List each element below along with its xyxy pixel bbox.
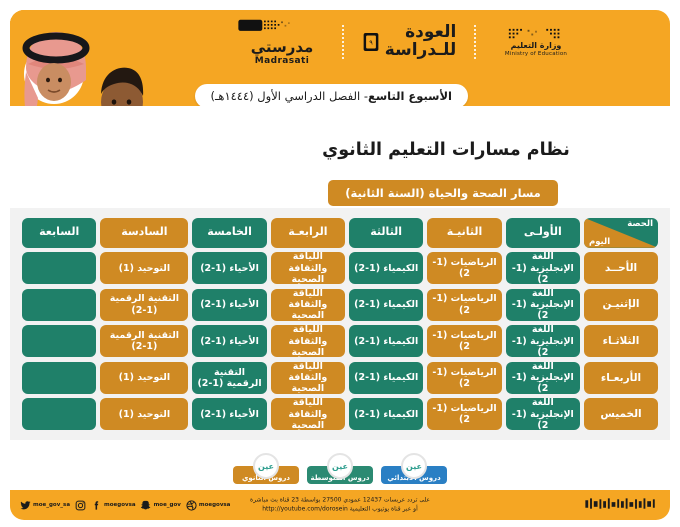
subject-cell-r4-c3: الكيمياء (1-2) [349,362,423,394]
subject-cell-r1-c2: الرياضيات (1-2) [427,252,501,284]
ain-secondary-badge[interactable]: عيندروس الثانوي [233,466,299,484]
subject-cell-r4-c6: التوحيد (1) [100,362,188,394]
subject-cell-r3-c6: التقنية الرقمية (1-2) [100,325,188,357]
dribbble-handle: moegovsa [199,502,231,508]
ain-intermediate-badge[interactable]: عيندروس المتوسطة [307,466,373,484]
subject-cell-r5-c2: الرياضيات (1-2) [427,398,501,430]
snapchat-icon [141,500,152,511]
schedule-poster: مدرستي Madrasati ٩ العودة للـدراسة [0,0,680,527]
subject-cell-r4-c5: التقنية الرقمية (1-2) [192,362,266,394]
subject-cell-r3-c5: الأحياء (1-2) [192,325,266,357]
schedule-table-wrapper: الحصةاليومالأولـىالثانيـةالثالثةالرابعـة… [10,208,670,440]
day-label-2: الإثنيـن [584,289,658,321]
ain-badges: عيندروس الثانويعيندروس المتوسطةعيندروس ا… [0,446,680,490]
dribbble-icon [186,500,197,511]
title-area: نظام مسارات التعليم الثانوي مسار الصحة و… [10,106,670,206]
subject-cell-r5-c5: الأحياء (1-2) [192,398,266,430]
day-label-3: الثلاثـاء [584,325,658,357]
table-row: الخميساللغة الإنجليزية (1-2)الرياضيات (1… [22,397,658,431]
subject-cell-r1-c6: التوحيد (1) [100,252,188,284]
footer-bar: moe_gov_samoegovsamoe_govmoegovsa على تر… [10,490,670,520]
subject-cell-r4-c1: اللغة الإنجليزية (1-2) [506,362,580,394]
week-pill: الأسبوع التاسع - الفصل الدراسي الأول (١٤… [195,84,468,108]
instagram-link[interactable] [75,500,86,511]
snapchat-handle: moe_gov [154,502,181,508]
track-badge: مسار الصحة والحياة (السنة الثانية) [328,180,558,206]
ministry-arabic: وزارة التعليم [511,42,562,50]
back-to-school-line2: للـدراسة [385,42,457,60]
period-header-1: الأولـى [506,218,580,248]
subject-cell-r5-c6: التوحيد (1) [100,398,188,430]
period-header-7: السابعة [22,218,96,248]
back-to-school-logo: ٩ العودة للـدراسة [344,18,474,66]
page-title: نظام مسارات التعليم الثانوي [222,140,670,160]
table-row: الإثنيـناللغة الإنجليزية (1-2)الرياضيات … [22,288,658,322]
corner-day-label: اليوم [589,237,610,247]
ministry-subtitle: Ministry of Education [505,51,567,57]
day-label-4: الأربعـاء [584,362,658,394]
week-pill-bold: الأسبوع التاسع [368,89,452,103]
logo-divider-1 [342,25,344,59]
schedule-table-body: الحصةاليومالأولـىالثانيـةالثالثةالرابعـة… [22,217,658,431]
subject-cell-r3-c3: الكيمياء (1-2) [349,325,423,357]
table-row: الأحــداللغة الإنجليزية (1-2)الرياضيات (… [22,251,658,285]
empty-cell-r3-c7 [22,325,96,357]
footer-right-logo [584,497,658,514]
subject-cell-r2-c5: الأحياء (1-2) [192,289,266,321]
twitter-link[interactable]: moe_gov_sa [20,500,70,511]
footer-line2-prefix: أو عبر قناة يوتيوب التعليمية [348,506,418,513]
schedule-table: الحصةاليومالأولـىالثانيـةالثالثةالرابعـة… [18,214,662,434]
madrasati-logo: مدرستي Madrasati [222,18,342,66]
ministry-of-education-logo: وزارة التعليم Ministry of Education [476,18,596,66]
subject-cell-r2-c2: الرياضيات (1-2) [427,289,501,321]
subject-cell-r5-c3: الكيمياء (1-2) [349,398,423,430]
period-header-5: الخامسة [192,218,266,248]
subject-cell-r2-c4: اللياقة والثقافة الصحية [271,289,345,321]
subject-cell-r4-c2: الرياضيات (1-2) [427,362,501,394]
ain-logo-icon: عين [327,453,353,479]
empty-cell-r2-c7 [22,289,96,321]
subject-cell-r5-c1: اللغة الإنجليزية (1-2) [506,398,580,430]
subject-cell-r3-c2: الرياضيات (1-2) [427,325,501,357]
subject-cell-r2-c1: اللغة الإنجليزية (1-2) [506,289,580,321]
corner-period-label: الحصة [627,219,653,229]
subject-cell-r2-c6: التقنية الرقمية (1-2) [100,289,188,321]
corner-header-cell: الحصةاليوم [584,218,658,248]
svg-text:٩: ٩ [369,38,373,46]
subject-cell-r1-c3: الكيمياء (1-2) [349,252,423,284]
facebook-icon [91,500,102,511]
footer-line1: على تردد عربسات 12437 عمودي 27500 بواسطة… [250,496,430,505]
table-row: الأربعـاءاللغة الإنجليزية (1-2)الرياضيات… [22,361,658,395]
snapchat-link[interactable]: moe_gov [141,500,181,511]
day-label-5: الخميس [584,398,658,430]
period-header-6: السادسة [100,218,188,248]
period-header-4: الرابعـة [271,218,345,248]
facebook-handle: moegovsa [104,502,136,508]
ain-logo-icon: عين [401,453,427,479]
logo-strip: مدرستي Madrasati ٩ العودة للـدراسة [222,14,662,70]
footer-broadcast-info: على تردد عربسات 12437 عمودي 27500 بواسطة… [250,496,430,515]
empty-cell-r1-c7 [22,252,96,284]
subject-cell-r3-c1: اللغة الإنجليزية (1-2) [506,325,580,357]
subject-cell-r1-c4: اللياقة والثقافة الصحية [271,252,345,284]
period-header-3: الثالثة [349,218,423,248]
subject-cell-r3-c4: اللياقة والثقافة الصحية [271,325,345,357]
day-label-1: الأحــد [584,252,658,284]
footer-youtube-url[interactable]: http://youtube.com/dorosein [262,506,348,513]
facebook-link[interactable]: moegovsa [91,500,136,511]
social-links: moe_gov_samoegovsamoe_govmoegovsa [20,490,230,520]
twitter-icon [20,500,31,511]
logo-divider-2 [474,25,476,59]
madrasati-arabic: مدرستي [251,40,314,56]
subject-cell-r5-c4: اللياقة والثقافة الصحية [271,398,345,430]
subject-cell-r4-c4: اللياقة والثقافة الصحية [271,362,345,394]
madrasati-latin: Madrasati [255,56,309,66]
instagram-icon [75,500,86,511]
period-header-2: الثانيـة [427,218,501,248]
subject-cell-r2-c3: الكيمياء (1-2) [349,289,423,321]
empty-cell-r5-c7 [22,398,96,430]
subject-cell-r1-c1: اللغة الإنجليزية (1-2) [506,252,580,284]
schedule-header-row: الحصةاليومالأولـىالثانيـةالثالثةالرابعـة… [22,217,658,248]
twitter-handle: moe_gov_sa [33,502,70,508]
week-pill-rest: - الفصل الدراسي الأول (١٤٤٤هـ) [211,89,368,103]
ain-logo-icon: عين [253,453,279,479]
dribbble-link[interactable]: moegovsa [186,500,231,511]
ain-primary-badge[interactable]: عيندروس الابتدائي [381,466,447,484]
table-row: الثلاثـاءاللغة الإنجليزية (1-2)الرياضيات… [22,324,658,358]
footer-line2: أو عبر قناة يوتيوب التعليمية http://yout… [250,505,430,514]
empty-cell-r4-c7 [22,362,96,394]
subject-cell-r1-c5: الأحياء (1-2) [192,252,266,284]
